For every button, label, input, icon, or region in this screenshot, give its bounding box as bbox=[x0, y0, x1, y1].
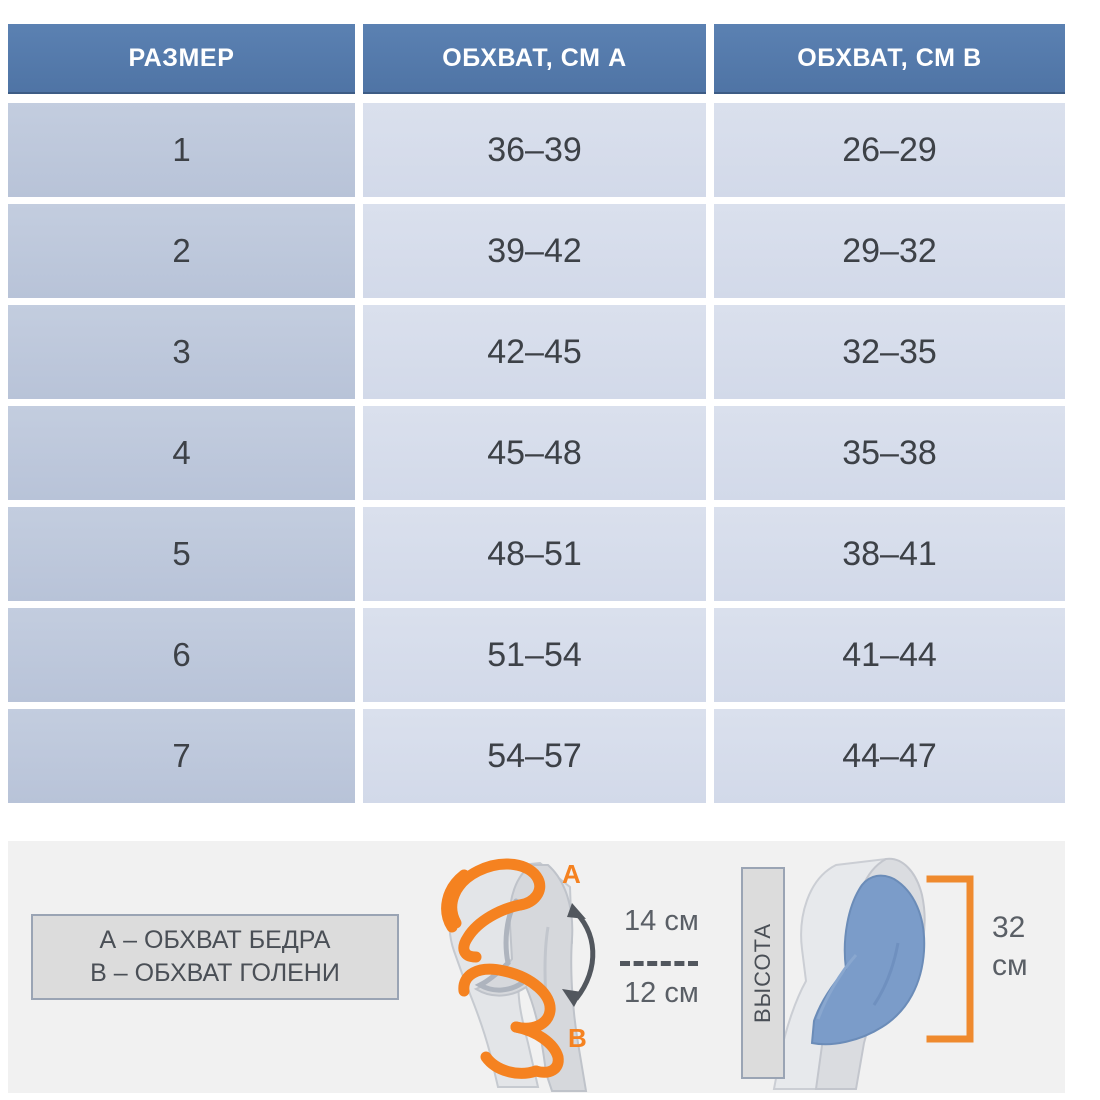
cell-circumference-a-value: 45–48 bbox=[487, 434, 582, 473]
cell-circumference-a: 48–51 bbox=[363, 507, 706, 601]
height-axis-label-box: ВЫСОТА bbox=[741, 867, 785, 1079]
cell-size: 4 bbox=[8, 406, 355, 500]
cell-circumference-b-value: 35–38 bbox=[842, 434, 937, 473]
cell-size: 6 bbox=[8, 608, 355, 702]
header-label-circumference-b: ОБХВАТ, СМ В bbox=[797, 44, 982, 73]
cell-circumference-a-value: 48–51 bbox=[487, 535, 582, 574]
size-chart-page: РАЗМЕР ОБХВАТ, СМ А ОБХВАТ, СМ В 1 36–39… bbox=[0, 0, 1100, 1100]
cell-circumference-b: 41–44 bbox=[714, 608, 1065, 702]
cell-circumference-a: 51–54 bbox=[363, 608, 706, 702]
cell-circumference-b: 44–47 bbox=[714, 709, 1065, 803]
cell-circumference-b-value: 26–29 bbox=[842, 131, 937, 170]
table-header-row: РАЗМЕР ОБХВАТ, СМ А ОБХВАТ, СМ В bbox=[8, 24, 1065, 94]
cell-size-value: 2 bbox=[172, 232, 190, 270]
header-cell-circumference-b: ОБХВАТ, СМ В bbox=[714, 24, 1065, 94]
cell-size: 2 bbox=[8, 204, 355, 298]
cell-size: 3 bbox=[8, 305, 355, 399]
header-label-size: РАЗМЕР bbox=[129, 44, 235, 73]
cell-size-value: 4 bbox=[172, 434, 190, 472]
table-row: 7 54–57 44–47 bbox=[8, 709, 1065, 803]
header-cell-size: РАЗМЕР bbox=[8, 24, 355, 94]
table-row: 5 48–51 38–41 bbox=[8, 507, 1065, 601]
cell-circumference-b-value: 41–44 bbox=[842, 636, 937, 675]
cell-size-value: 1 bbox=[172, 131, 190, 169]
cell-circumference-b-value: 38–41 bbox=[842, 535, 937, 574]
height-axis-label: ВЫСОТА bbox=[750, 923, 776, 1023]
cell-circumference-b-value: 29–32 bbox=[842, 232, 937, 271]
cell-circumference-a: 45–48 bbox=[363, 406, 706, 500]
cell-circumference-a-value: 36–39 bbox=[487, 131, 582, 170]
cell-circumference-b: 35–38 bbox=[714, 406, 1065, 500]
cell-circumference-a-value: 42–45 bbox=[487, 333, 582, 372]
cell-circumference-b: 26–29 bbox=[714, 103, 1065, 197]
label-b: B bbox=[568, 1023, 587, 1053]
cell-circumference-b: 32–35 bbox=[714, 305, 1065, 399]
cell-size-value: 5 bbox=[172, 535, 190, 573]
dimension-divider-dashed bbox=[620, 961, 698, 966]
header-cell-circumference-a: ОБХВАТ, СМ А bbox=[363, 24, 706, 94]
table-row: 6 51–54 41–44 bbox=[8, 608, 1065, 702]
cell-circumference-b-value: 32–35 bbox=[842, 333, 937, 372]
cell-size: 1 bbox=[8, 103, 355, 197]
cell-circumference-a-value: 39–42 bbox=[487, 232, 582, 271]
knee-rings-illustration: A B bbox=[420, 847, 740, 1093]
label-a: A bbox=[562, 859, 581, 889]
table-row: 1 36–39 26–29 bbox=[8, 103, 1065, 197]
legend-line-a: А – ОБХВАТ БЕДРА bbox=[100, 924, 331, 957]
cell-circumference-a: 36–39 bbox=[363, 103, 706, 197]
cell-circumference-b: 38–41 bbox=[714, 507, 1065, 601]
height-range-arrow-icon bbox=[572, 909, 593, 999]
cell-circumference-a-value: 51–54 bbox=[487, 636, 582, 675]
cell-size-value: 6 bbox=[172, 636, 190, 674]
cell-size: 5 bbox=[8, 507, 355, 601]
cell-circumference-a: 39–42 bbox=[363, 204, 706, 298]
cell-circumference-a: 54–57 bbox=[363, 709, 706, 803]
cell-circumference-b: 29–32 bbox=[714, 204, 1065, 298]
header-label-circumference-a: ОБХВАТ, СМ А bbox=[442, 44, 627, 73]
cell-size-value: 3 bbox=[172, 333, 190, 371]
cell-size: 7 bbox=[8, 709, 355, 803]
legend-and-diagrams-panel: А – ОБХВАТ БЕДРА В – ОБХВАТ ГОЛЕНИ bbox=[8, 841, 1065, 1093]
legend-line-b: В – ОБХВАТ ГОЛЕНИ bbox=[90, 957, 340, 990]
brace-height-value: 32 см bbox=[992, 909, 1064, 984]
cell-circumference-a: 42–45 bbox=[363, 305, 706, 399]
table-row: 2 39–42 29–32 bbox=[8, 204, 1065, 298]
legend-box: А – ОБХВАТ БЕДРА В – ОБХВАТ ГОЛЕНИ bbox=[31, 914, 399, 1000]
dimension-value-top: 14 см bbox=[624, 905, 699, 938]
cell-circumference-a-value: 54–57 bbox=[487, 737, 582, 776]
size-table: РАЗМЕР ОБХВАТ, СМ А ОБХВАТ, СМ В 1 36–39… bbox=[8, 24, 1065, 810]
table-row: 3 42–45 32–35 bbox=[8, 305, 1065, 399]
cell-circumference-b-value: 44–47 bbox=[842, 737, 937, 776]
brace-height-number: 32 bbox=[992, 909, 1064, 947]
knee-measurement-diagram: A B 14 см 12 см bbox=[420, 847, 740, 1093]
brace-height-unit: см bbox=[992, 947, 1064, 985]
height-bracket-icon bbox=[930, 879, 970, 1039]
brace-height-diagram: ВЫСОТА 32 bbox=[736, 847, 1066, 1093]
table-row: 4 45–48 35–38 bbox=[8, 406, 1065, 500]
dimension-value-bottom: 12 см bbox=[624, 977, 699, 1010]
cell-size-value: 7 bbox=[172, 737, 190, 775]
